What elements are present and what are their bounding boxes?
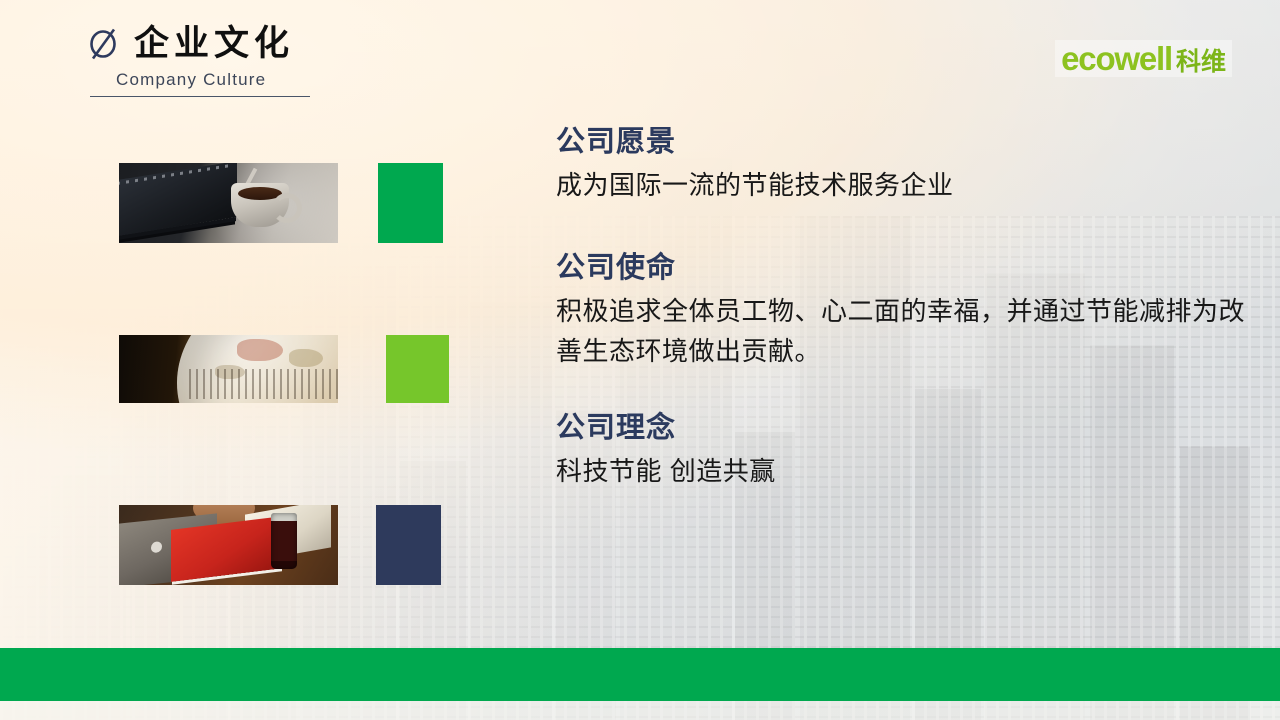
entry-heading: 公司理念 <box>556 412 1256 445</box>
entry-vision: 公司愿景 成为国际一流的节能技术服务企业 <box>556 126 1256 206</box>
laptop-and-notebook-photo <box>119 505 338 585</box>
title-row: 企业文化 <box>88 26 388 61</box>
media-row <box>119 505 441 585</box>
title-underline <box>90 96 310 97</box>
footer-green-bar <box>0 648 1280 701</box>
globe-photo <box>119 335 338 403</box>
entry-body: 成为国际一流的节能技术服务企业 <box>556 165 1256 205</box>
entry-heading: 公司使命 <box>556 252 1256 285</box>
globe-landmass-shape <box>289 349 323 367</box>
coffee-cup-shape <box>231 183 289 227</box>
slide-title-block: 企业文化 Company Culture <box>88 26 388 97</box>
entry-philosophy: 公司理念 科技节能 创造共赢 <box>556 412 1256 492</box>
globe-label-texture <box>189 369 338 399</box>
entry-mission: 公司使命 积极追求全体员工物、心二面的幸福，并通过节能减排为改善生态环境做出贡献… <box>556 252 1256 372</box>
logo-latin-text: ecowell <box>1061 42 1172 75</box>
green-swatch <box>378 163 443 243</box>
media-row <box>119 163 443 243</box>
slashed-circle-icon <box>88 27 120 61</box>
corporate-logo: ecowell 科维 <box>1055 40 1232 77</box>
logo-chinese-text: 科维 <box>1176 50 1226 75</box>
entry-body: 积极追求全体员工物、心二面的幸福，并通过节能减排为改善生态环境做出贡献。 <box>556 291 1256 372</box>
slide-canvas: 企业文化 Company Culture ecowell 科维 <box>0 0 1280 720</box>
footer-light-strip <box>0 701 1280 720</box>
navy-swatch <box>376 505 441 585</box>
entry-heading: 公司愿景 <box>556 126 1256 159</box>
lime-swatch <box>386 335 449 403</box>
page-subtitle: Company Culture <box>116 70 388 90</box>
media-row <box>119 335 449 403</box>
page-title: 企业文化 <box>134 26 294 61</box>
notebook-and-coffee-photo <box>119 163 338 243</box>
content-column: 公司愿景 成为国际一流的节能技术服务企业 公司使命 积极追求全体员工物、心二面的… <box>556 126 1256 491</box>
globe-landmass-shape <box>237 339 283 361</box>
jar-shape <box>271 513 297 569</box>
notebook-shape <box>119 163 237 237</box>
entry-body: 科技节能 创造共赢 <box>556 451 1256 491</box>
